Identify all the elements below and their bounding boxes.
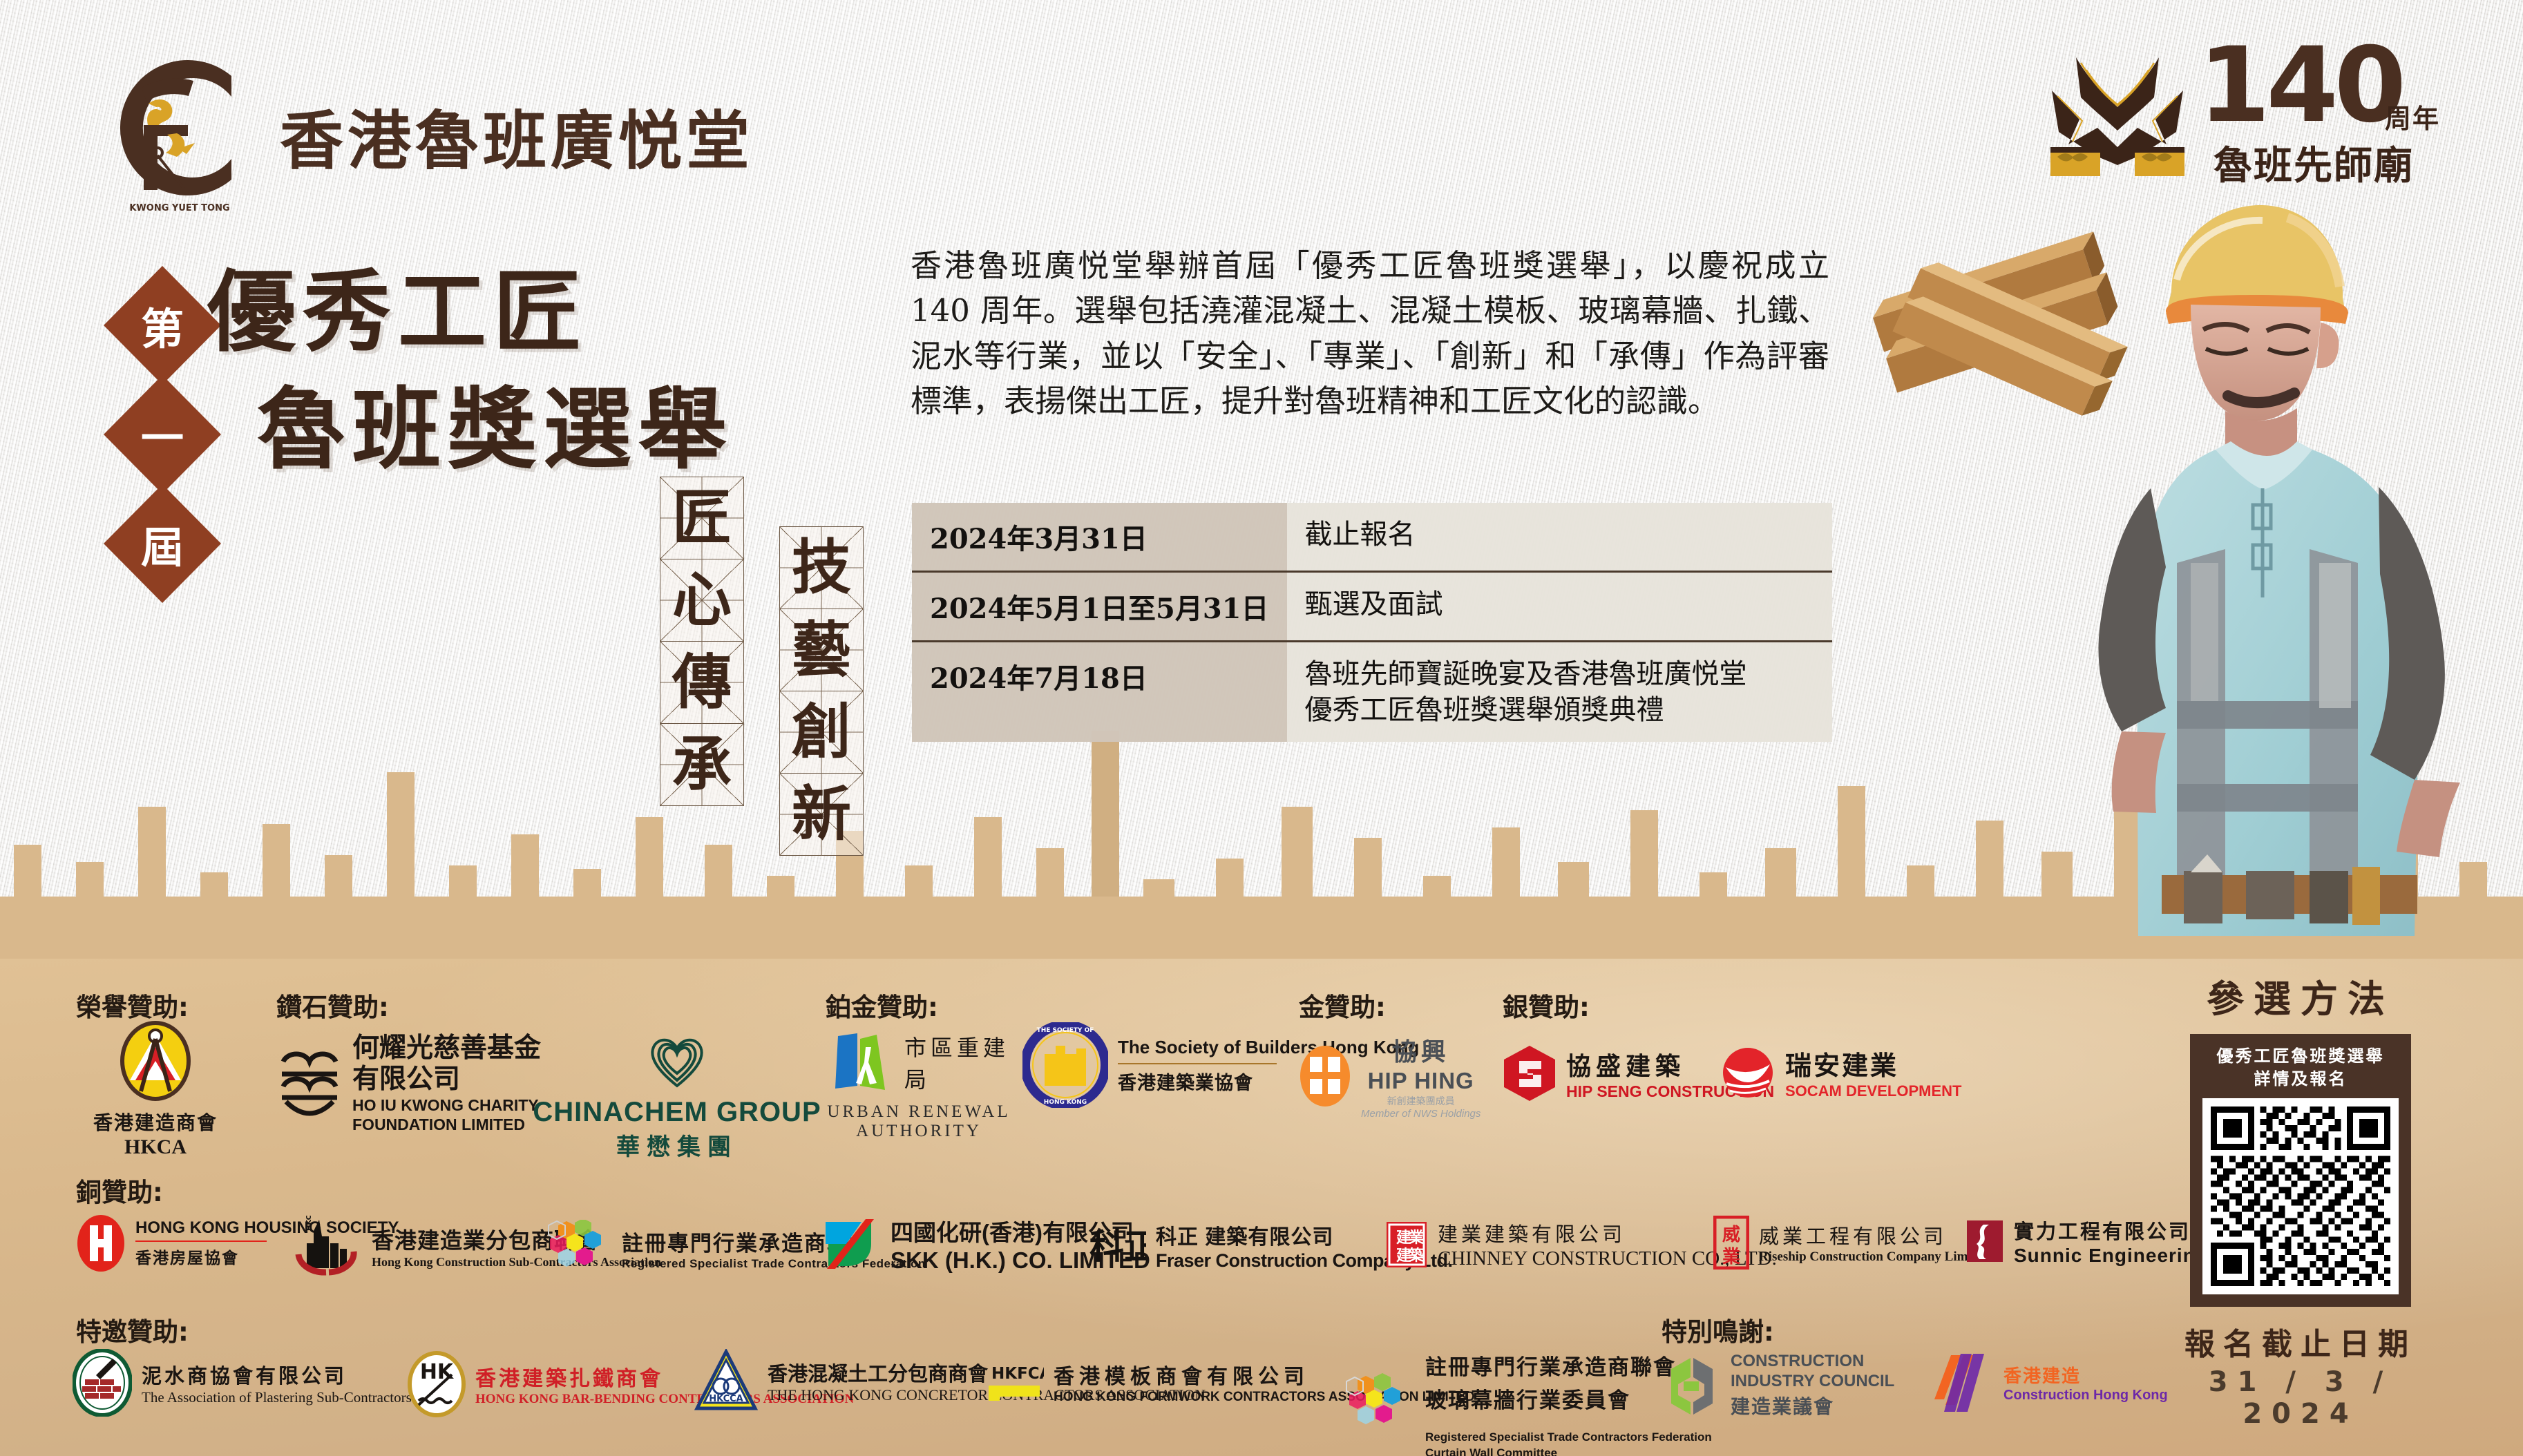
motto-cell: 匠 [660, 477, 744, 559]
sponsor-name: 威業工程有限公司 Riseship Construction Company L… [1759, 1220, 1989, 1265]
thanks-logo-construction-hk: 香港建造 Construction Hong Kong [1927, 1351, 2168, 1415]
sponsor-tier-label-platinum: 鉑金贊助: [826, 986, 938, 1024]
deadline-label: 報名截止日期 [2142, 1319, 2459, 1363]
edition-char-1: 第 [104, 266, 221, 385]
cic-icon [1662, 1354, 1721, 1416]
sponsor-tier-label-bronze: 銅贊助: [76, 1171, 163, 1209]
sponsor-tier-label-honour: 榮譽贊助: [76, 986, 189, 1024]
plastering-assoc-icon [73, 1349, 132, 1417]
sponsor-logo-riseship: 威 業 威業工程有限公司 Riseship Construction Compa… [1713, 1216, 1989, 1270]
edition-char-3: 屆 [104, 484, 221, 603]
motto-cell: 新 [779, 773, 864, 856]
sponsor-logo-ho-iu-kwong: 何耀光慈善基金 有限公司 HO IU KWONG CHARITY FOUNDAT… [276, 1033, 541, 1135]
svg-text:HK: HK [420, 1360, 455, 1384]
sponsor-name-cn: 市區重建局 [904, 1031, 1012, 1094]
page-title: 優秀工匠 魯班獎選舉 [207, 254, 734, 489]
svg-text:業: 業 [1409, 1229, 1425, 1247]
schedule-date: 2024年5月1日至5月31日 [912, 572, 1287, 642]
schedule-desc: 甄選及面試 [1287, 572, 1833, 642]
socam-globe-icon [1720, 1045, 1775, 1100]
chinney-seal-icon: 建 業 建 築 [1385, 1220, 1428, 1269]
table-row: 2024年7月18日 魯班先師寶誕晚宴及香港魯班廣悦堂 優秀工匠魯班獎選舉頒獎典… [912, 642, 1832, 743]
sponsor-logo-ura: 市區重建局 URBAN RENEWAL AUTHORITY [826, 1026, 1012, 1141]
motto-cell: 藝 [779, 609, 864, 691]
svg-text:HKCSA: HKCSA [305, 1216, 313, 1231]
schedule-date: 2024年3月31日 [912, 503, 1287, 572]
lo-pan-kwong-yuet-tong-logo: KWONG YUET TONG [90, 38, 269, 218]
svg-text:HKFCA: HKFCA [991, 1365, 1044, 1383]
sponsor-tier-label-silver: 銀贊助: [1503, 986, 1590, 1024]
sponsor-tier-label-invited: 特邀贊助: [76, 1311, 189, 1348]
ura-icon [826, 1026, 897, 1098]
skk-icon [819, 1218, 881, 1270]
motto-cell: 技 [779, 526, 864, 609]
sunnic-icon [1965, 1219, 2004, 1263]
sponsor-tier-label-gold: 金贊助: [1299, 986, 1386, 1024]
schedule-table: 2024年3月31日 截止報名 2024年5月1日至5月31日 甄選及面試 20… [912, 503, 1832, 742]
organization-name: 香港魯班廣悦堂 [280, 90, 754, 182]
entry-method-title: 參選方法 [2142, 968, 2459, 1023]
sponsor-logo-chinachem: CHINACHEM GROUP 華懋集團 [563, 1026, 791, 1162]
ho-iu-kwong-icon [276, 1044, 343, 1125]
svg-text:HKCCA: HKCCA [709, 1394, 743, 1404]
sponsor-logo-plastering-association: 泥水商協會有限公司 The Association of Plastering … [73, 1349, 461, 1417]
poster-canvas: KWONG YUET TONG 香港魯班廣悦堂 140 [0, 0, 2523, 1456]
qr-card-caption: 優秀工匠魯班獎選舉 詳情及報名 [2202, 1045, 2399, 1090]
construction-hk-icon [1927, 1351, 1994, 1415]
rstcf-curtain-wall-hexagons-icon [1344, 1372, 1416, 1441]
hkcsa-icon: HKCSA [290, 1216, 362, 1276]
motto-cell: 創 [779, 691, 864, 774]
hip-seng-icon [1503, 1044, 1556, 1102]
sponsor-name: 瑞安建業 SOCAM DEVELOPMENT [1785, 1044, 1961, 1100]
motto-column-left: 匠 心 傳 承 [660, 477, 744, 805]
svg-text:THE SOCIETY OF: THE SOCIETY OF [1037, 1027, 1094, 1034]
sponsor-name: 何耀光慈善基金 有限公司 HO IU KWONG CHARITY FOUNDAT… [352, 1033, 541, 1135]
table-row: 2024年3月31日 截止報名 [912, 503, 1832, 572]
chinachem-heart-icon [644, 1026, 710, 1093]
construction-worker-illustration [2055, 176, 2511, 984]
entry-method-panel: 參選方法 優秀工匠魯班獎選舉 詳情及報名 [2142, 968, 2459, 1430]
schedule-date: 2024年7月18日 [912, 642, 1287, 743]
sponsor-logo-socam: 瑞安建業 SOCAM DEVELOPMENT [1720, 1044, 1961, 1100]
deadline-date: 31 / 3 / 2024 [2142, 1366, 2459, 1430]
svg-text:威: 威 [1722, 1224, 1740, 1245]
motto-column-right: 技 藝 創 新 [779, 526, 864, 855]
sponsor-subline-en: Member of NWS Holdings [1361, 1108, 1481, 1120]
sponsor-subline-cn: 新創建築團成員 [1361, 1094, 1481, 1108]
motto-cell: 傳 [660, 641, 744, 724]
anniversary-number: 140 [2198, 34, 2402, 137]
sponsor-logo-hkca: 香港建造商會 HKCA [76, 1021, 235, 1159]
140th-anniversary-logo: 140 周年 魯班先師廟 [2038, 38, 2480, 190]
sponsor-name: CONSTRUCTION INDUSTRY COUNCIL 建造業議會 [1731, 1351, 1910, 1419]
hip-hing-icon [1299, 1043, 1351, 1109]
table-row: 2024年5月1日至5月31日 甄選及面試 [912, 572, 1832, 642]
rstcf-hexagons-icon [546, 1220, 612, 1276]
edition-char-2: 一 [104, 375, 221, 494]
motto-cell: 承 [660, 723, 744, 806]
hkfca-icon: HKFCA [984, 1361, 1044, 1404]
svg-text:業: 業 [1722, 1247, 1740, 1267]
sponsor-name: 香港建造商會 HKCA [93, 1108, 218, 1159]
qr-code[interactable] [2202, 1098, 2399, 1294]
hk-housing-society-icon [76, 1214, 126, 1272]
svg-text:HONG KONG: HONG KONG [1044, 1099, 1087, 1106]
svg-text:科正: 科正 [1089, 1227, 1146, 1267]
edition-ribbon: 第 一 屆 [104, 266, 221, 604]
logo-ring-text: KWONG YUET TONG [129, 203, 229, 213]
hk-bar-bending-icon: HK [408, 1351, 466, 1417]
riseship-seal-icon: 威 業 [1713, 1216, 1749, 1270]
hkca-compass-icon [117, 1021, 193, 1104]
schedule-desc: 魯班先師寶誕晚宴及香港魯班廣悦堂 優秀工匠魯班獎選舉頒獎典禮 [1287, 642, 1833, 743]
sponsor-name-en: URBAN RENEWAL AUTHORITY [826, 1102, 1012, 1141]
society-of-builders-icon: THE SOCIETY OF HONG KONG [1022, 1022, 1108, 1108]
fraser-mark-icon: 科正 [1088, 1223, 1146, 1270]
motto-cell: 心 [660, 559, 744, 642]
anniversary-unit-label: 周年 [2385, 97, 2440, 135]
intro-paragraph: 香港魯班廣悦堂舉辦首屆「優秀工匠魯班獎選舉」，以慶祝成立 140 周年。選舉包括… [911, 243, 1829, 423]
sponsor-name: 協興 HIP HING 新創建築團成員 Member of NWS Holdin… [1361, 1032, 1481, 1120]
thanks-logo-cic: CONSTRUCTION INDUSTRY COUNCIL 建造業議會 [1662, 1351, 1910, 1419]
sponsor-logo-hip-hing: 協興 HIP HING 新創建築團成員 Member of NWS Holdin… [1299, 1032, 1481, 1120]
qr-card[interactable]: 優秀工匠魯班獎選舉 詳情及報名 [2190, 1034, 2411, 1307]
svg-text:築: 築 [1408, 1247, 1425, 1265]
sponsor-tier-label-diamond: 鑽石贊助: [276, 986, 389, 1024]
title-line-2: 魯班獎選舉 [207, 372, 734, 489]
sponsor-logo-rstcf-curtain-wall: 註冊專門行業承造商聯會 玻璃幕牆行業委員會 Registered Special… [1344, 1339, 1712, 1456]
hkcca-icon: HKCCA [694, 1349, 758, 1412]
sponsor-name: CHINACHEM GROUP 華懋集團 [533, 1097, 821, 1162]
schedule-desc: 截止報名 [1287, 503, 1833, 572]
lo-pan-temple-roof-icon [2038, 44, 2197, 185]
title-line-1: 優秀工匠 [207, 254, 734, 372]
